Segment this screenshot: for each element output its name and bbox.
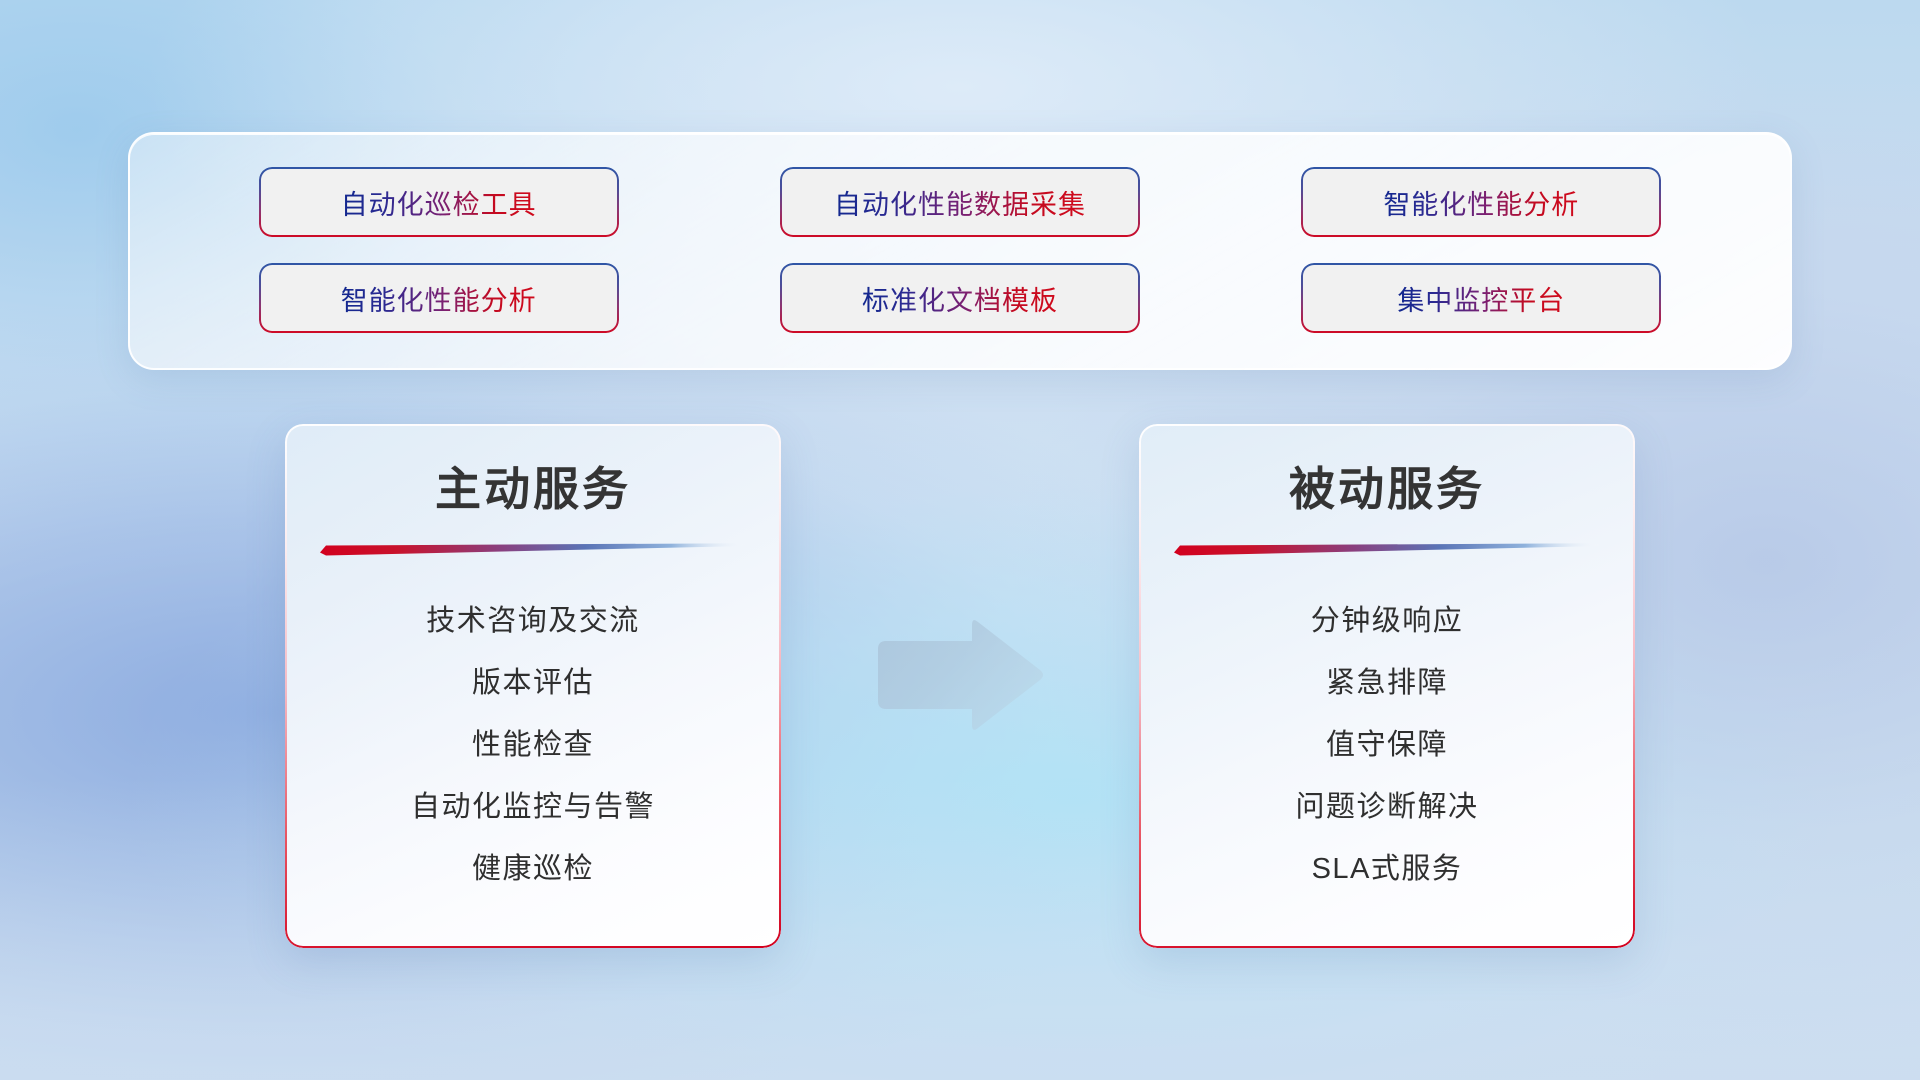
card-inner: 主动服务 — [285, 424, 781, 948]
chip-label: 智能化性能分析 — [341, 279, 537, 318]
chip-centralized-monitoring-platform[interactable]: 集中监控平台 — [1303, 265, 1659, 331]
reactive-service-card[interactable]: 被动服务 — [1139, 424, 1635, 948]
chip-label: 自动化巡检工具 — [341, 183, 537, 222]
list-item: SLA式服务 — [1312, 838, 1463, 900]
card-title: 主动服务 — [435, 462, 631, 516]
chip-label: 标准化文档模板 — [862, 279, 1058, 318]
list-item: 性能检查 — [472, 714, 594, 776]
card-title-divider — [318, 538, 748, 558]
chip-standardized-document-template[interactable]: 标准化文档模板 — [782, 265, 1138, 331]
list-item: 自动化监控与告警 — [411, 776, 655, 838]
list-item: 问题诊断解决 — [1295, 776, 1478, 838]
chip-label: 智能化性能分析 — [1383, 183, 1579, 222]
proactive-service-card[interactable]: 主动服务 — [285, 424, 781, 948]
chip-automated-performance-collection[interactable]: 自动化性能数据采集 — [782, 169, 1138, 235]
list-item: 技术咨询及交流 — [426, 590, 640, 652]
chip-grid: 自动化巡检工具 自动化性能数据采集 智能化性能分析 智能化性能分析 标准化文档模… — [130, 134, 1790, 368]
chip-label: 集中监控平台 — [1397, 279, 1565, 318]
list-item: 紧急排障 — [1326, 652, 1448, 714]
capability-chips-panel: 自动化巡检工具 自动化性能数据采集 智能化性能分析 智能化性能分析 标准化文档模… — [128, 132, 1792, 370]
slide-canvas: 自动化巡检工具 自动化性能数据采集 智能化性能分析 智能化性能分析 标准化文档模… — [0, 0, 1920, 1080]
list-item: 版本评估 — [472, 652, 594, 714]
card-title-divider — [1172, 538, 1602, 558]
list-item: 健康巡检 — [472, 838, 594, 900]
list-item: 值守保障 — [1326, 714, 1448, 776]
chip-intelligent-performance-analysis-top[interactable]: 智能化性能分析 — [1303, 169, 1659, 235]
chip-label: 自动化性能数据采集 — [834, 183, 1086, 222]
chip-intelligent-performance-analysis-bottom[interactable]: 智能化性能分析 — [261, 265, 617, 331]
service-item-list: 技术咨询及交流 版本评估 性能检查 自动化监控与告警 健康巡检 — [321, 590, 745, 900]
right-arrow-icon — [872, 619, 1048, 731]
card-inner: 被动服务 — [1139, 424, 1635, 948]
card-title: 被动服务 — [1289, 462, 1485, 516]
list-item: 分钟级响应 — [1311, 590, 1464, 652]
chip-automated-inspection-tool[interactable]: 自动化巡检工具 — [261, 169, 617, 235]
service-item-list: 分钟级响应 紧急排障 值守保障 问题诊断解决 SLA式服务 — [1175, 590, 1599, 900]
